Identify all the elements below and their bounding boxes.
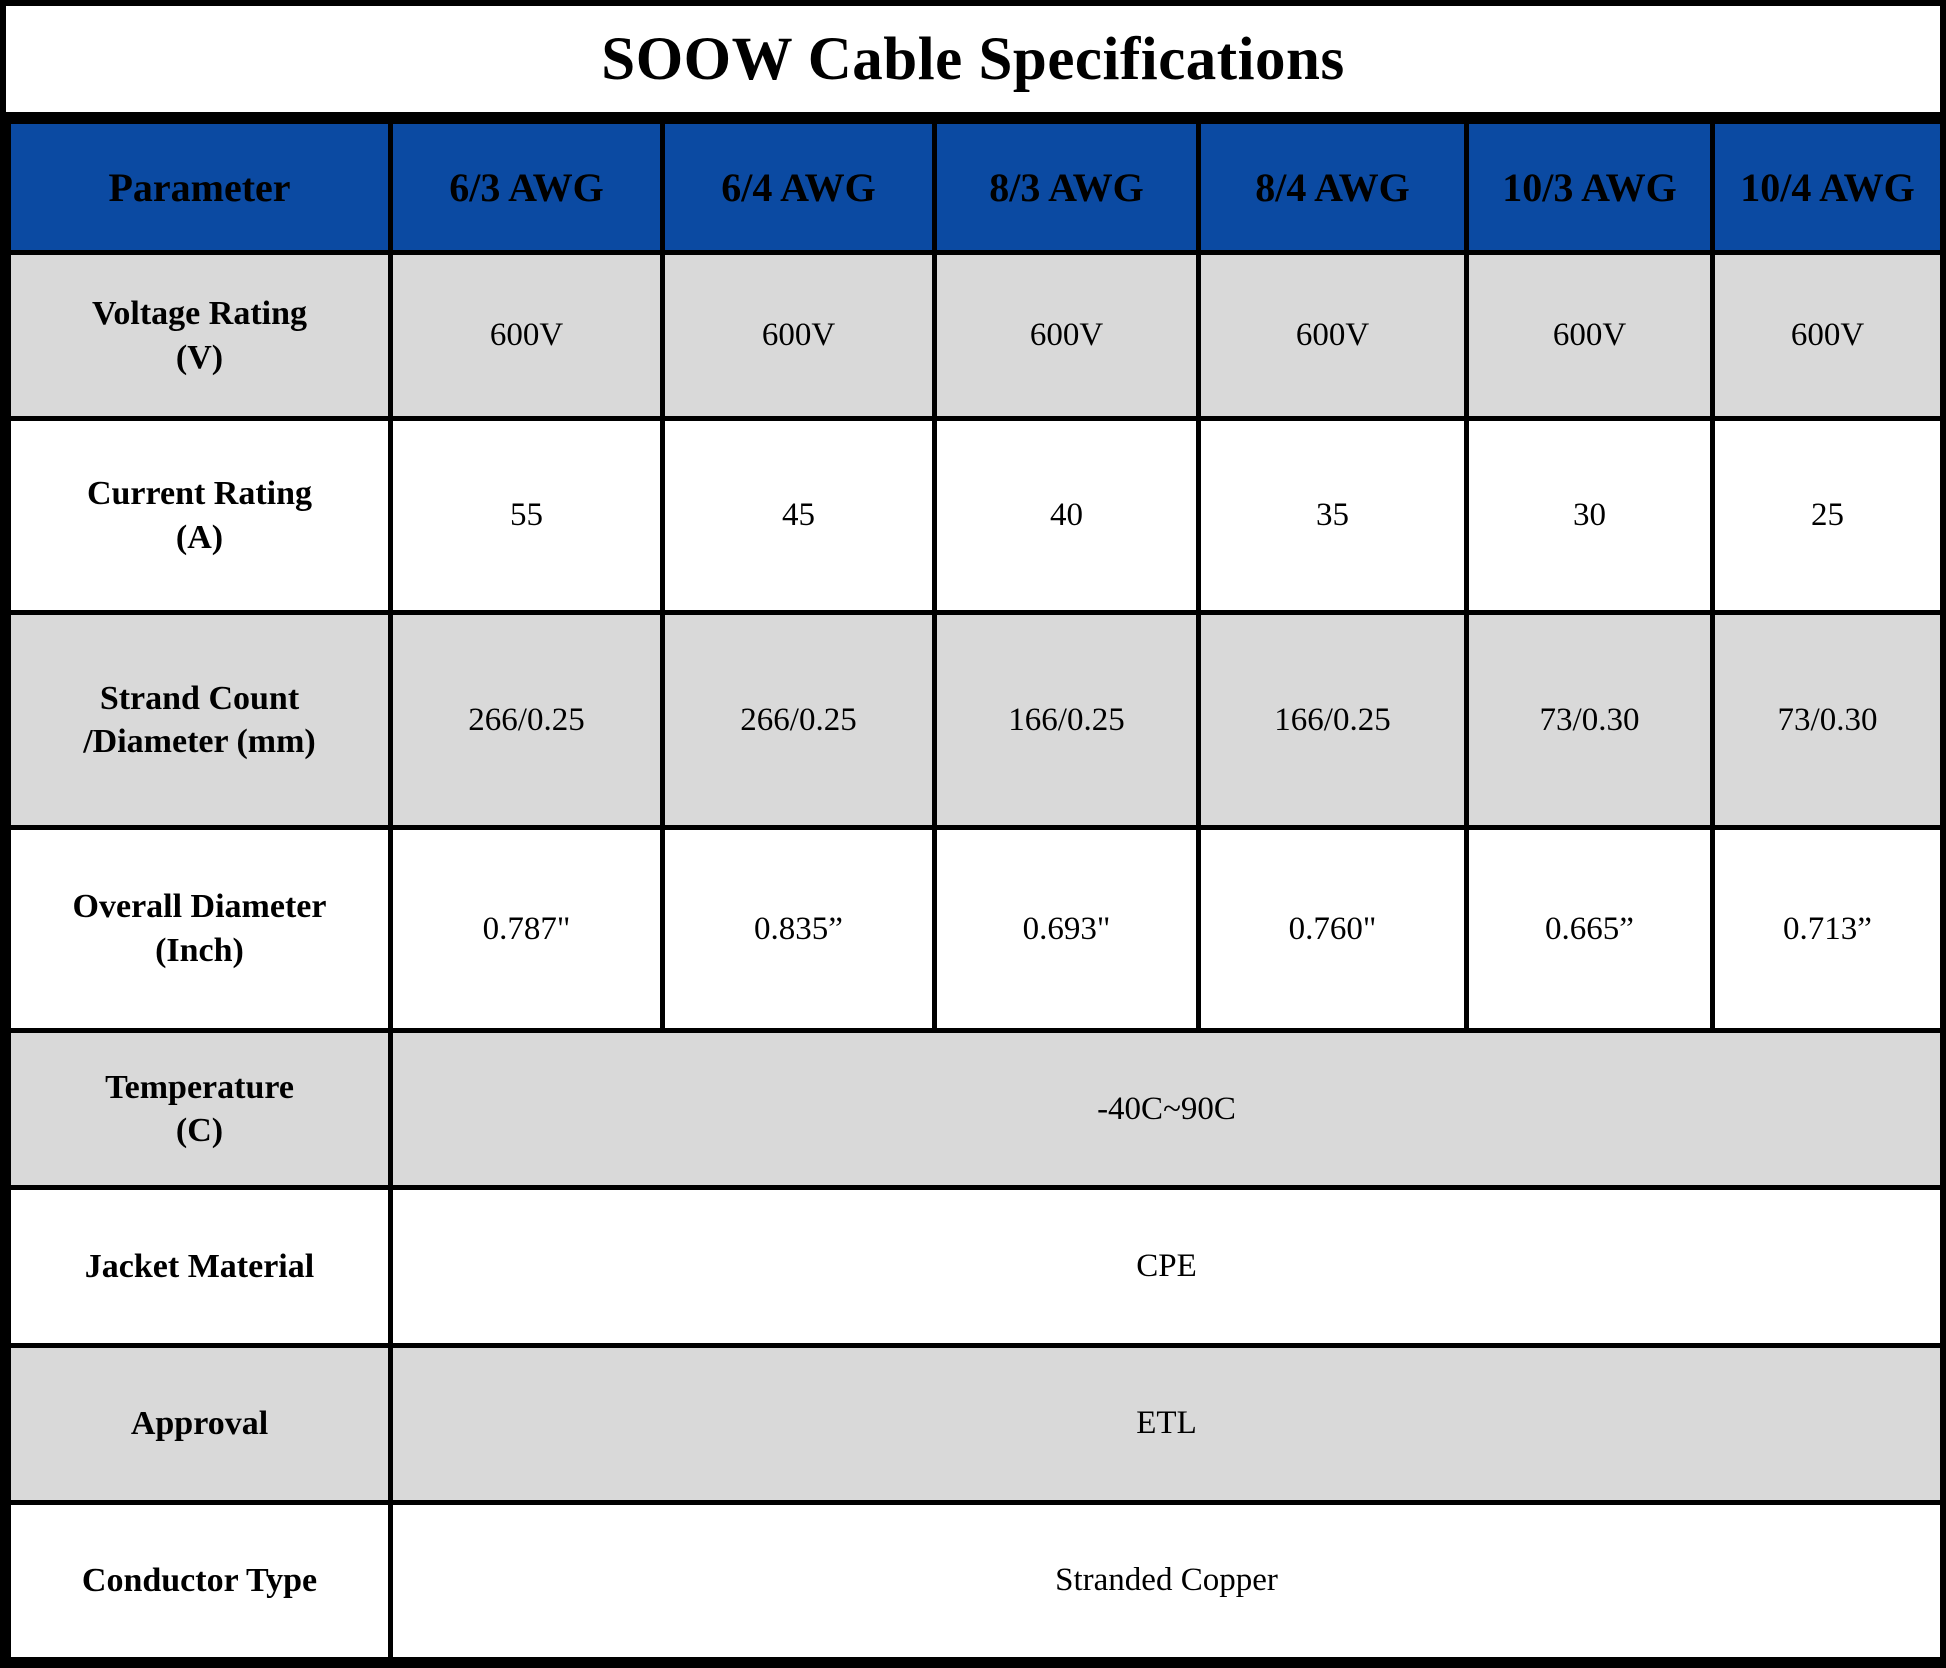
column-header-10-3-awg: 10/3 AWG [1467,122,1713,253]
header-row: Parameter 6/3 AWG 6/4 AWG 8/3 AWG 8/4 AW… [9,122,1943,253]
row-label-line-1: Overall Diameter [17,885,382,929]
cell-voltage-6-4: 600V [663,253,935,419]
row-label-line-2: (A) [17,516,382,560]
row-label-conductor-type: Conductor Type [9,1502,391,1659]
row-label-line-1: Strand Count [17,677,382,721]
column-header-parameter: Parameter [9,122,391,253]
cell-diameter-6-4: 0.835” [663,827,935,1030]
title-bar: SOOW Cable Specifications [6,6,1940,119]
row-label-line-2: (C) [17,1109,382,1153]
column-header-8-3-awg: 8/3 AWG [935,122,1199,253]
cell-diameter-10-4: 0.713” [1713,827,1943,1030]
cell-current-8-4: 35 [1199,419,1467,613]
cell-current-6-4: 45 [663,419,935,613]
row-label-line-1: Current Rating [17,472,382,516]
cell-temperature-all: -40C~90C [391,1031,1943,1188]
cell-diameter-6-3: 0.787" [391,827,663,1030]
cell-current-8-3: 40 [935,419,1199,613]
cell-diameter-10-3: 0.665” [1467,827,1713,1030]
cell-approval-all: ETL [391,1345,1943,1502]
row-label-strand-count: Strand Count /Diameter (mm) [9,613,391,828]
cell-strand-8-3: 166/0.25 [935,613,1199,828]
column-header-6-3-awg: 6/3 AWG [391,122,663,253]
row-label-line-2: (Inch) [17,929,382,973]
cell-voltage-8-4: 600V [1199,253,1467,419]
row-label-line-1: Voltage Rating [17,292,382,336]
cell-voltage-6-3: 600V [391,253,663,419]
table-body: Voltage Rating (V) 600V 600V 600V 600V 6… [9,253,1943,1660]
cell-current-10-4: 25 [1713,419,1943,613]
cell-strand-10-4: 73/0.30 [1713,613,1943,828]
column-header-6-4-awg: 6/4 AWG [663,122,935,253]
row-label-overall-diameter: Overall Diameter (Inch) [9,827,391,1030]
column-header-10-4-awg: 10/4 AWG [1713,122,1943,253]
page-title: SOOW Cable Specifications [601,29,1344,90]
cell-diameter-8-3: 0.693" [935,827,1199,1030]
row-label-line-1: Jacket Material [17,1245,382,1289]
table-header: Parameter 6/3 AWG 6/4 AWG 8/3 AWG 8/4 AW… [9,122,1943,253]
table-row: Temperature (C) -40C~90C [9,1031,1943,1188]
cell-strand-8-4: 166/0.25 [1199,613,1467,828]
specifications-table: Parameter 6/3 AWG 6/4 AWG 8/3 AWG 8/4 AW… [6,119,1945,1662]
cell-voltage-10-3: 600V [1467,253,1713,419]
table-row: Approval ETL [9,1345,1943,1502]
table-row: Conductor Type Stranded Copper [9,1502,1943,1659]
row-label-line-2: /Diameter (mm) [17,720,382,764]
cell-voltage-8-3: 600V [935,253,1199,419]
cell-strand-10-3: 73/0.30 [1467,613,1713,828]
row-label-current-rating: Current Rating (A) [9,419,391,613]
table-row: Strand Count /Diameter (mm) 266/0.25 266… [9,613,1943,828]
cell-current-10-3: 30 [1467,419,1713,613]
table-row: Current Rating (A) 55 45 40 35 30 25 [9,419,1943,613]
spec-sheet: SOOW Cable Specifications Parameter 6/3 … [0,0,1946,1668]
row-label-temperature: Temperature (C) [9,1031,391,1188]
cell-conductor-type-all: Stranded Copper [391,1502,1943,1659]
cell-current-6-3: 55 [391,419,663,613]
row-label-line-1: Conductor Type [17,1559,382,1603]
cell-diameter-8-4: 0.760" [1199,827,1467,1030]
cell-voltage-10-4: 600V [1713,253,1943,419]
row-label-voltage-rating: Voltage Rating (V) [9,253,391,419]
cell-strand-6-4: 266/0.25 [663,613,935,828]
row-label-line-1: Temperature [17,1066,382,1110]
table-row: Overall Diameter (Inch) 0.787" 0.835” 0.… [9,827,1943,1030]
cell-strand-6-3: 266/0.25 [391,613,663,828]
row-label-jacket-material: Jacket Material [9,1188,391,1345]
row-label-approval: Approval [9,1345,391,1502]
row-label-line-1: Approval [17,1402,382,1446]
row-label-line-2: (V) [17,336,382,380]
table-row: Jacket Material CPE [9,1188,1943,1345]
cell-jacket-material-all: CPE [391,1188,1943,1345]
column-header-8-4-awg: 8/4 AWG [1199,122,1467,253]
table-row: Voltage Rating (V) 600V 600V 600V 600V 6… [9,253,1943,419]
